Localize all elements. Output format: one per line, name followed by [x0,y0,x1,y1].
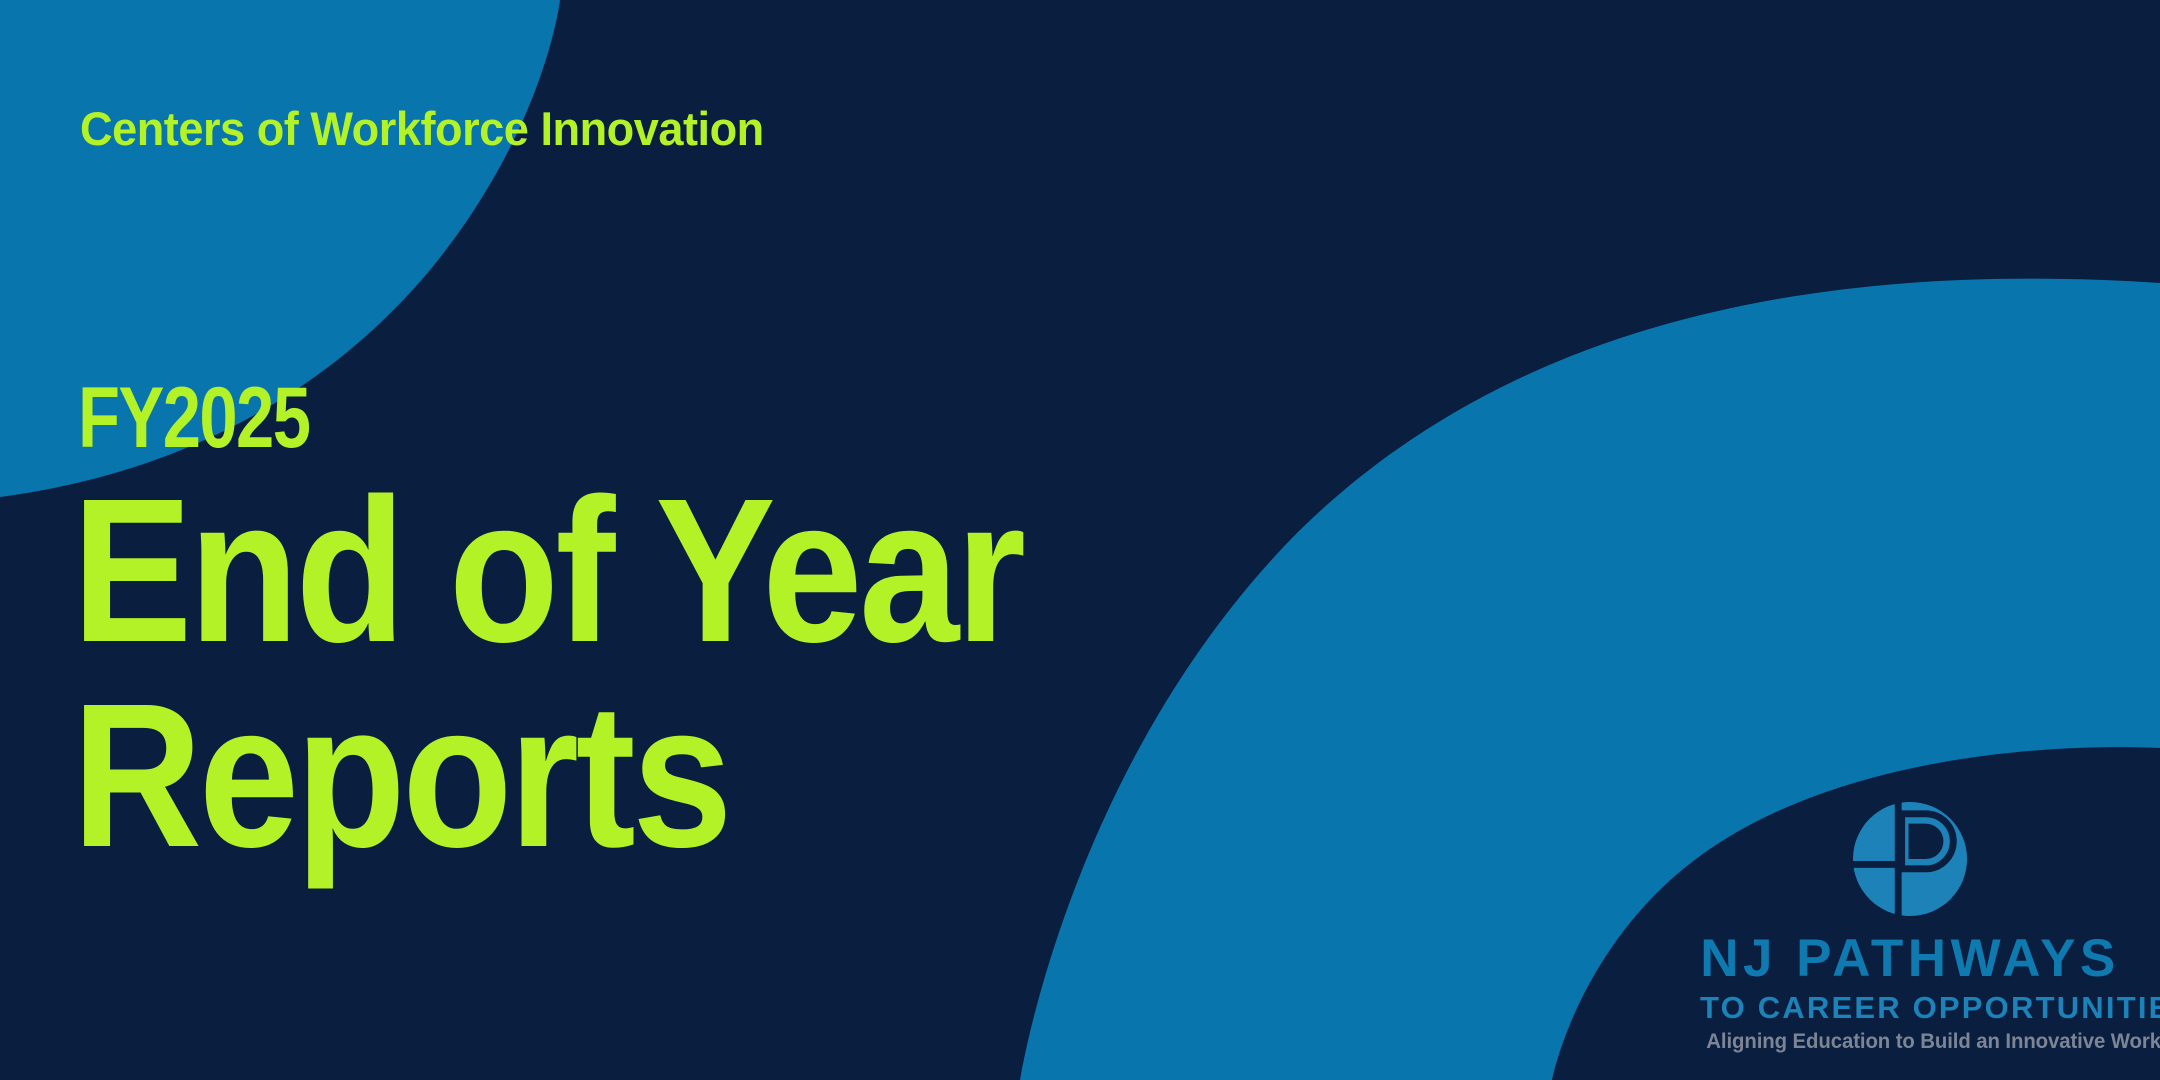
fiscal-year-label: FY2025 [78,375,309,461]
logo-tagline: Aligning Education to Build an Innovativ… [1706,1031,2113,1052]
page-title-line-2: Reports [72,675,1022,878]
logo-wordmark-secondary: TO CAREER OPPORTUNITIES [1700,992,2120,1023]
slide-canvas: Centers of Workforce Innovation FY2025 E… [0,0,2160,1080]
nj-pathways-logo-lockup: NJ PATHWAYS TO CAREER OPPORTUNITIES Alig… [1700,800,2120,1050]
kicker-text: Centers of Workforce Innovation [80,105,764,152]
logo-wordmark-primary: NJ PATHWAYS [1700,932,2120,985]
nj-pathways-p-circle-icon [1851,800,1969,918]
page-title: End of Year Reports [72,470,1152,878]
page-title-line-1: End of Year [72,470,1022,673]
